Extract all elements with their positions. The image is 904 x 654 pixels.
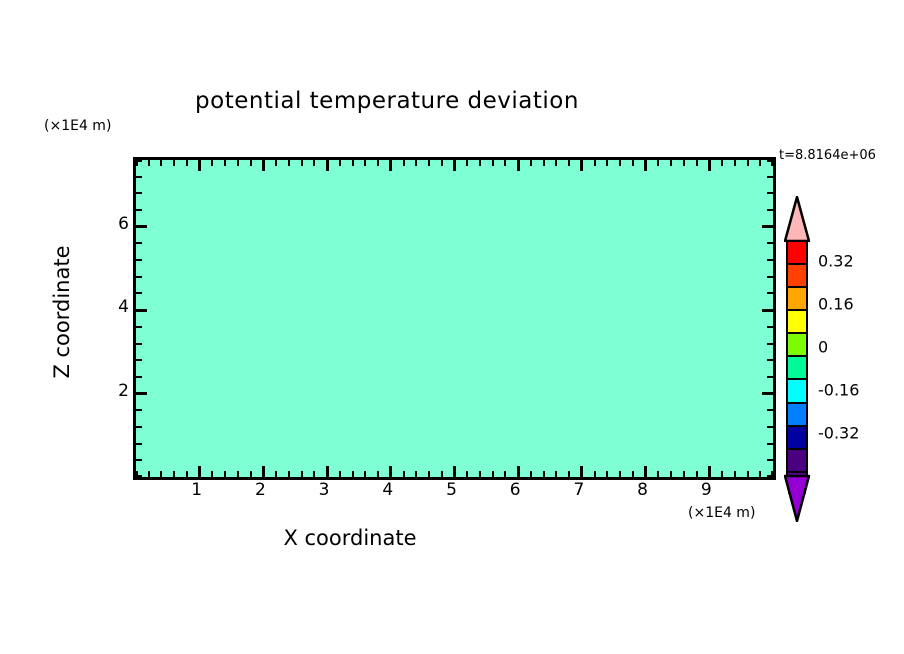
axis-tick — [136, 459, 142, 461]
axis-tick — [339, 160, 341, 166]
axis-tick — [352, 160, 354, 166]
axis-tick — [543, 471, 545, 477]
colorbar-band — [788, 288, 806, 311]
x-tick-label: 6 — [510, 480, 521, 500]
colorbar-tick-labels: 0.320.160-0.16-0.32 — [818, 196, 898, 516]
axis-tick — [136, 242, 142, 244]
axis-tick — [288, 160, 290, 166]
axis-tick — [198, 466, 201, 477]
axis-tick — [275, 471, 277, 477]
axis-tick — [377, 471, 379, 477]
axis-tick — [441, 160, 443, 166]
axis-tick — [136, 443, 142, 445]
axis-tick — [644, 160, 647, 171]
contour-plot-area — [133, 157, 776, 480]
axis-tick — [136, 309, 147, 312]
axis-tick — [767, 426, 773, 428]
axis-tick — [767, 292, 773, 294]
axis-tick — [148, 471, 150, 477]
axis-tick — [767, 192, 773, 194]
axis-tick — [415, 471, 417, 477]
axis-tick — [415, 160, 417, 166]
colorbar-tick-label: 0 — [818, 338, 828, 357]
axis-tick — [186, 160, 188, 166]
colorbar-tick-label: 0.32 — [818, 252, 854, 271]
axis-tick — [767, 242, 773, 244]
figure-canvas: potential temperature deviation (×1E4 m)… — [0, 0, 904, 654]
axis-tick — [555, 160, 557, 166]
x-tick-label: 5 — [446, 480, 457, 500]
axis-tick — [762, 225, 773, 228]
axis-tick — [389, 466, 392, 477]
axis-tick — [747, 160, 749, 166]
axis-tick — [313, 160, 315, 166]
colorbar-band — [788, 357, 806, 380]
axis-tick — [136, 209, 142, 211]
axis-tick — [403, 160, 405, 166]
axis-tick — [148, 160, 150, 166]
axis-tick — [767, 443, 773, 445]
axis-tick — [250, 160, 252, 166]
axis-tick — [160, 160, 162, 166]
axis-tick — [492, 160, 494, 166]
axis-tick — [136, 292, 142, 294]
axis-tick — [517, 160, 520, 171]
colorbar-band — [788, 450, 806, 473]
axis-tick — [364, 471, 366, 477]
axis-tick — [767, 343, 773, 345]
axis-tick — [759, 471, 761, 477]
axis-tick — [403, 471, 405, 477]
axis-tick — [504, 471, 506, 477]
axis-tick — [136, 426, 142, 428]
axis-tick — [580, 466, 583, 477]
colorbar-under-arrow — [784, 474, 810, 522]
y-axis-unit-label: (×1E4 m) — [44, 118, 111, 134]
axis-tick — [555, 471, 557, 477]
axis-tick — [173, 471, 175, 477]
colorbar-band — [788, 427, 806, 450]
axis-tick — [734, 471, 736, 477]
y-tick-label: 2 — [118, 381, 129, 401]
axis-tick — [767, 209, 773, 211]
axis-tick — [767, 409, 773, 411]
colorbar-band — [788, 265, 806, 288]
axis-tick — [767, 475, 773, 477]
axis-tick — [173, 160, 175, 166]
colorbar — [784, 196, 814, 516]
axis-tick — [352, 471, 354, 477]
axis-tick — [696, 471, 698, 477]
axis-tick — [504, 160, 506, 166]
axis-tick — [632, 471, 634, 477]
axis-tick — [762, 392, 773, 395]
axis-tick — [657, 471, 659, 477]
axis-tick — [721, 160, 723, 166]
axis-tick — [136, 192, 142, 194]
x-tick-label: 7 — [573, 480, 584, 500]
axis-tick — [224, 160, 226, 166]
axis-tick — [136, 343, 142, 345]
axis-tick — [530, 160, 532, 166]
axis-tick — [479, 471, 481, 477]
x-tick-label: 3 — [319, 480, 330, 500]
axis-tick — [734, 160, 736, 166]
axis-tick — [441, 471, 443, 477]
plot-title: potential temperature deviation — [0, 88, 904, 114]
axis-tick — [339, 471, 341, 477]
y-tick-label: 4 — [118, 297, 129, 317]
axis-tick — [313, 471, 315, 477]
axis-tick — [428, 471, 430, 477]
y-tick-labels: 246 — [95, 157, 129, 474]
x-tick-label: 1 — [191, 480, 202, 500]
axis-tick — [670, 471, 672, 477]
axis-tick — [492, 471, 494, 477]
axis-tick — [767, 376, 773, 378]
axis-tick — [670, 160, 672, 166]
x-tick-label: 2 — [255, 480, 266, 500]
colorbar-tick-label: 0.16 — [818, 295, 854, 314]
axis-tick — [632, 160, 634, 166]
axis-tick — [301, 160, 303, 166]
axis-tick — [211, 471, 213, 477]
axis-tick — [237, 160, 239, 166]
axis-tick — [721, 471, 723, 477]
axis-tick — [762, 309, 773, 312]
axis-tick — [767, 160, 773, 162]
x-tick-label: 8 — [637, 480, 648, 500]
axis-tick — [453, 160, 456, 171]
axis-tick — [747, 471, 749, 477]
axis-tick — [708, 466, 711, 477]
axis-tick — [136, 176, 142, 178]
axis-tick — [326, 160, 329, 171]
axis-tick — [198, 160, 201, 171]
axis-tick — [389, 160, 392, 171]
axis-tick — [568, 160, 570, 166]
axis-tick — [250, 471, 252, 477]
axis-tick — [683, 471, 685, 477]
axis-tick — [696, 160, 698, 166]
axis-tick — [708, 160, 711, 171]
axis-tick — [619, 160, 621, 166]
axis-tick — [262, 160, 265, 171]
x-axis-label: X coordinate — [0, 526, 904, 550]
axis-tick — [136, 326, 142, 328]
axis-tick — [136, 276, 142, 278]
axis-tick — [683, 160, 685, 166]
axis-tick — [211, 160, 213, 166]
x-tick-label: 9 — [701, 480, 712, 500]
axis-tick — [136, 259, 142, 261]
colorbar-band — [788, 380, 806, 403]
colorbar-tick-label: -0.16 — [818, 381, 859, 400]
axis-tick — [326, 466, 329, 477]
colorbar-band — [788, 311, 806, 334]
axis-tick — [767, 276, 773, 278]
axis-tick — [136, 392, 147, 395]
colorbar-tick-label: -0.32 — [818, 424, 859, 443]
axis-tick — [606, 160, 608, 166]
axis-tick — [377, 160, 379, 166]
axis-tick — [466, 160, 468, 166]
timestamp-annotation: t=8.8164e+06 — [779, 148, 876, 163]
axis-tick — [517, 466, 520, 477]
axis-tick — [136, 475, 142, 477]
colorbar-over-arrow — [784, 196, 810, 242]
axis-tick — [606, 471, 608, 477]
axis-tick — [224, 471, 226, 477]
axis-tick — [275, 160, 277, 166]
axis-tick — [136, 376, 142, 378]
axis-tick — [136, 409, 142, 411]
y-tick-label: 6 — [118, 214, 129, 234]
axis-tick — [759, 160, 761, 166]
axis-tick — [428, 160, 430, 166]
axis-tick — [479, 160, 481, 166]
axis-tick — [767, 459, 773, 461]
axis-tick — [301, 471, 303, 477]
axis-tick — [453, 466, 456, 477]
axis-tick — [657, 160, 659, 166]
axis-tick — [288, 471, 290, 477]
axis-tick — [186, 471, 188, 477]
axis-tick — [160, 471, 162, 477]
axis-tick — [136, 359, 142, 361]
axis-tick — [594, 471, 596, 477]
y-axis-label: Z coordinate — [50, 202, 74, 422]
colorbar-bands — [786, 240, 808, 476]
axis-tick — [619, 471, 621, 477]
axis-tick — [262, 466, 265, 477]
colorbar-band — [788, 242, 806, 265]
axis-tick — [466, 471, 468, 477]
axis-tick — [136, 160, 142, 162]
x-tick-labels: 123456789 — [133, 480, 770, 504]
axis-tick — [543, 160, 545, 166]
colorbar-band — [788, 404, 806, 427]
axis-tick — [767, 359, 773, 361]
contour-field — [136, 160, 773, 477]
axis-tick — [594, 160, 596, 166]
axis-tick — [568, 471, 570, 477]
x-tick-label: 4 — [382, 480, 393, 500]
axis-tick — [530, 471, 532, 477]
axis-tick — [364, 160, 366, 166]
axis-tick — [580, 160, 583, 171]
axis-tick — [237, 471, 239, 477]
axis-tick — [767, 326, 773, 328]
axis-tick — [767, 176, 773, 178]
x-axis-unit-label: (×1E4 m) — [688, 505, 755, 521]
colorbar-band — [788, 334, 806, 357]
plot-title-text: potential temperature deviation — [195, 88, 579, 114]
axis-tick — [767, 259, 773, 261]
axis-tick — [644, 466, 647, 477]
x-axis-label-text: X coordinate — [283, 526, 416, 550]
axis-tick — [136, 225, 147, 228]
